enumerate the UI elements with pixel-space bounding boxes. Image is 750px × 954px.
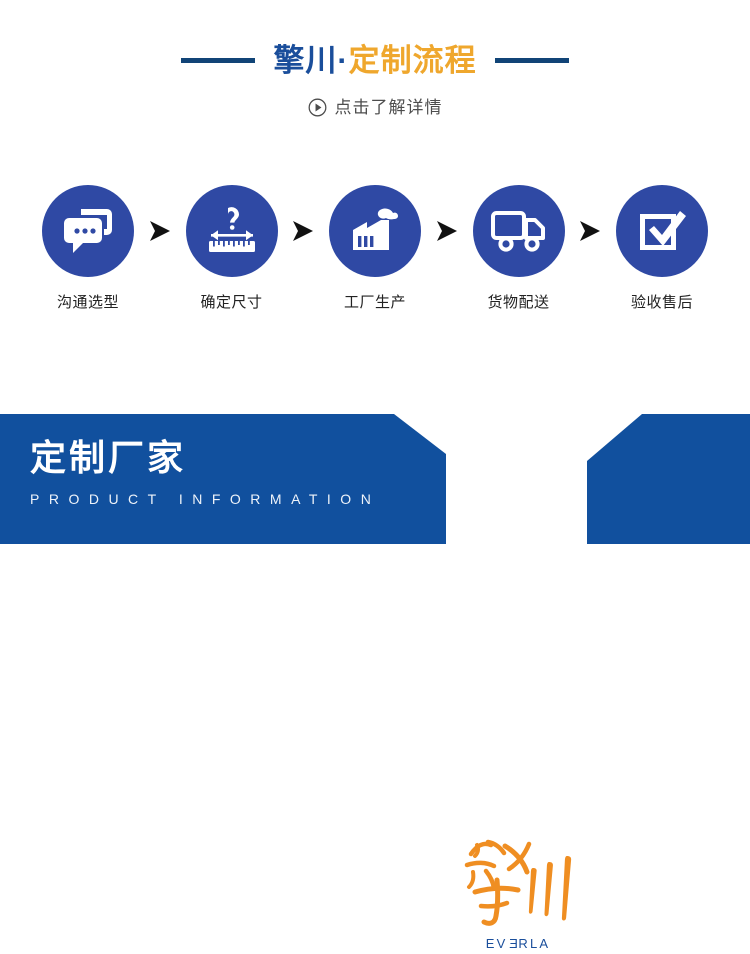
step-label: 确定尺寸 xyxy=(200,291,262,312)
process-steps: 沟通选型 xyxy=(38,185,712,325)
checkbox-check-icon xyxy=(636,206,688,256)
step-circle[interactable] xyxy=(616,185,708,277)
subtitle-label: 点击了解详情 xyxy=(335,99,443,116)
company-logo: EVERLA xyxy=(455,832,581,954)
header-section: 擎川·定制流程 点击了解详情 xyxy=(0,0,750,150)
arrow-right-icon xyxy=(146,185,174,277)
banner-right-panel xyxy=(587,414,750,544)
logo-wordmark-before: EV xyxy=(486,936,508,951)
step-label: 验收售后 xyxy=(631,291,693,312)
step-circle[interactable] xyxy=(186,185,278,277)
step-circle[interactable] xyxy=(329,185,421,277)
step-item[interactable]: 工厂生产 xyxy=(325,185,425,312)
step-item[interactable]: 验收售后 xyxy=(612,185,712,312)
logo-wordmark: EVERLA xyxy=(455,937,581,950)
step-item[interactable]: 货物配送 xyxy=(469,185,569,312)
title-rule-left xyxy=(181,58,255,63)
step-item[interactable]: 确定尺寸 xyxy=(182,185,282,312)
factory-icon xyxy=(347,206,403,256)
arrow-right-icon xyxy=(289,185,317,277)
step-label: 工厂生产 xyxy=(344,291,406,312)
step-item[interactable]: 沟通选型 xyxy=(38,185,138,312)
delivery-truck-icon xyxy=(490,208,548,254)
page-title: 擎川·定制流程 xyxy=(273,45,476,76)
arrow-right-icon xyxy=(433,185,461,277)
subtitle-row[interactable]: 点击了解详情 xyxy=(0,98,750,117)
bottom-banner: 定制厂家 PRODUCT INFORMATION xyxy=(0,414,750,544)
qingchuan-logo-mark xyxy=(455,832,581,936)
logo-wordmark-after: RLA xyxy=(518,936,550,951)
banner-title: 定制厂家 xyxy=(30,440,380,476)
page-title-primary: 擎川· xyxy=(273,43,348,78)
banner-left-panel: 定制厂家 PRODUCT INFORMATION xyxy=(0,414,446,544)
arrow-right-icon xyxy=(576,185,604,277)
banner-text-block: 定制厂家 PRODUCT INFORMATION xyxy=(30,440,380,506)
page-title-secondary: 定制流程 xyxy=(349,43,477,78)
chat-bubbles-icon xyxy=(61,207,115,255)
banner-subtitle: PRODUCT INFORMATION xyxy=(30,492,380,506)
step-label: 沟通选型 xyxy=(57,291,119,312)
ruler-measure-icon xyxy=(203,205,261,257)
title-row: 擎川·定制流程 xyxy=(0,38,750,82)
title-rule-right xyxy=(495,58,569,63)
step-label: 货物配送 xyxy=(487,291,549,312)
logo-wordmark-reversed-e: E xyxy=(507,937,518,950)
step-circle[interactable] xyxy=(473,185,565,277)
play-circle-icon[interactable] xyxy=(308,98,327,117)
step-circle[interactable] xyxy=(42,185,134,277)
